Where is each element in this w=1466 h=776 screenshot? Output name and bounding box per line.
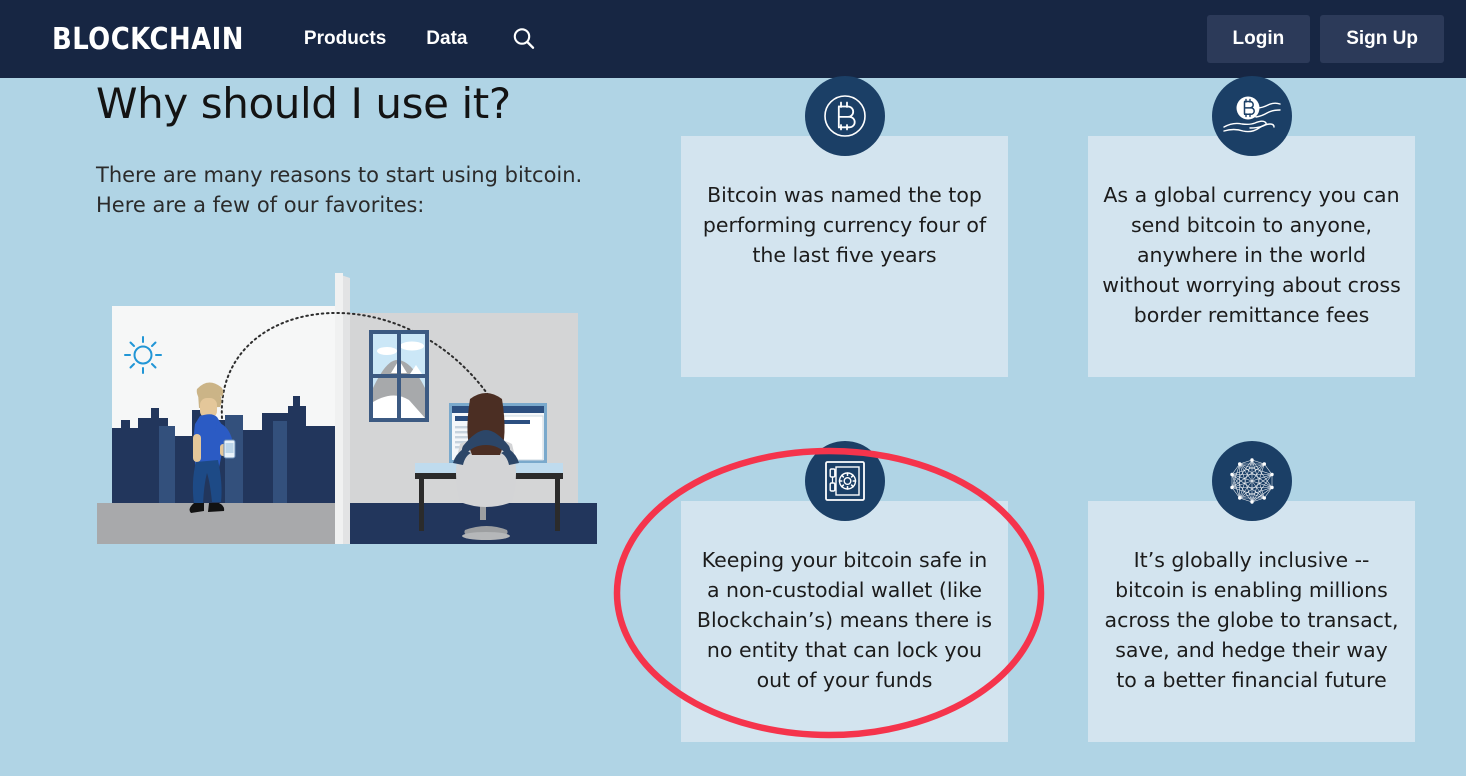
hero-illustration xyxy=(97,258,597,551)
benefit-card-text: It’s globally inclusive -- bitcoin is en… xyxy=(1088,501,1415,695)
benefit-card-text: Keeping your bitcoin safe in a non-custo… xyxy=(681,501,1008,695)
search-icon[interactable] xyxy=(509,24,539,54)
login-button[interactable]: Login xyxy=(1207,15,1311,63)
benefit-card[interactable]: Bitcoin was named the top performing cur… xyxy=(681,136,1008,377)
benefit-card[interactable]: As a global currency you can send bitcoi… xyxy=(1088,136,1415,377)
intro-line-1: There are many reasons to start using bi… xyxy=(96,163,582,187)
signup-button[interactable]: Sign Up xyxy=(1320,15,1444,63)
nav-item-products[interactable]: Products xyxy=(304,28,386,50)
benefit-card[interactable]: Keeping your bitcoin safe in a non-custo… xyxy=(681,501,1008,742)
hero-illustration-svg xyxy=(97,258,597,546)
brand-logo[interactable]: BLOCKCHAIN xyxy=(52,22,244,57)
bitcoin-coin-icon xyxy=(805,76,885,156)
safe-vault-icon-glyph xyxy=(822,458,868,504)
safe-vault-icon xyxy=(805,441,885,521)
benefit-card[interactable]: It’s globally inclusive -- bitcoin is en… xyxy=(1088,501,1415,742)
page-title: Why should I use it? xyxy=(96,78,656,130)
network-nodes-globe-icon xyxy=(1212,441,1292,521)
intro-line-2: Here are a few of our favorites: xyxy=(96,193,424,217)
intro-paragraph: There are many reasons to start using bi… xyxy=(96,160,656,220)
network-nodes-globe-icon-glyph xyxy=(1228,457,1276,505)
benefit-card-text: As a global currency you can send bitcoi… xyxy=(1088,136,1415,330)
nav-item-data[interactable]: Data xyxy=(426,28,467,50)
site-header: BLOCKCHAIN Products Data Login Sign Up xyxy=(0,0,1466,78)
search-icon-glyph xyxy=(511,26,537,52)
hand-holding-bitcoin-icon-glyph xyxy=(1222,91,1282,141)
bitcoin-coin-icon-glyph xyxy=(822,93,868,139)
benefit-card-text: Bitcoin was named the top performing cur… xyxy=(681,136,1008,270)
hand-holding-bitcoin-icon xyxy=(1212,76,1292,156)
header-actions: Login Sign Up xyxy=(1207,15,1444,63)
window xyxy=(369,330,429,422)
intro-block: Why should I use it? There are many reas… xyxy=(96,78,656,220)
